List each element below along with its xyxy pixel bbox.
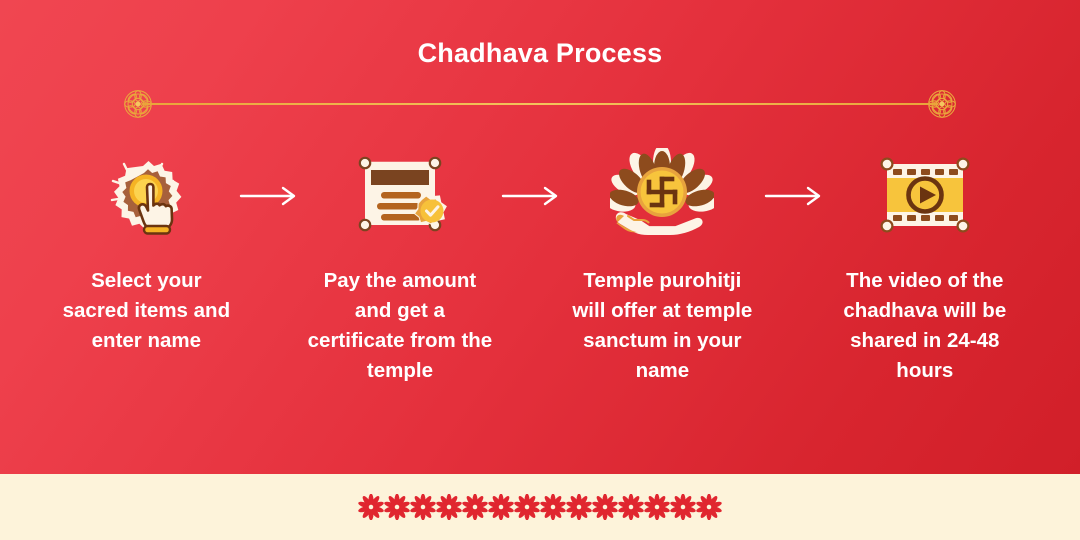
step-1-icon-wrap [100,148,192,244]
step-4-icon-wrap [875,148,975,244]
arrow-right-icon [501,185,561,207]
chadhava-process-poster: Chadhava Process [0,0,1080,540]
flower-icon [644,494,670,520]
hand-offering-swastika-lotus-icon [610,148,714,244]
flower-icon [592,494,618,520]
flower-icon [436,494,462,520]
flower-icon [462,494,488,520]
footer-ornament-bar [0,474,1080,540]
flower-icon [670,494,696,520]
flower-icon [696,494,722,520]
arrow-right-icon [764,185,824,207]
flower-divider [358,494,722,520]
flower-icon [618,494,644,520]
step-2-label: Pay the amount and get a certificate fro… [305,266,495,386]
step-3-icon-wrap [610,148,714,244]
step-4-label: The video of the chadhava will be shared… [830,266,1020,386]
step-3-label: Temple purohitji will offer at temple sa… [567,266,757,386]
flower-icon [384,494,410,520]
flower-icon [514,494,540,520]
process-step-3: Temple purohitji will offer at temple sa… [567,148,757,386]
step-arrow-1 [233,148,305,244]
arrow-right-icon [239,185,299,207]
step-arrow-3 [758,148,830,244]
decorative-divider [120,88,960,120]
step-2-icon-wrap [351,148,449,244]
flower-icon [358,494,384,520]
page-title: Chadhava Process [0,38,1080,69]
flower-icon [566,494,592,520]
process-step-2: Pay the amount and get a certificate fro… [305,148,495,386]
divider-line [142,103,938,105]
film-strip-play-icon [875,152,975,240]
step-arrow-2 [495,148,567,244]
flower-icon [488,494,514,520]
mandala-ornament-left-icon [119,85,157,123]
flower-icon [410,494,436,520]
flower-icon [540,494,566,520]
certificate-seal-icon [351,150,449,242]
mandala-ornament-right-icon [923,85,961,123]
step-1-label: Select your sacred items and enter name [60,266,233,356]
process-steps: Select your sacred items and enter name [60,148,1020,398]
process-step-4: The video of the chadhava will be shared… [830,148,1020,386]
process-step-1: Select your sacred items and enter name [60,148,233,356]
hand-tap-sun-icon [100,150,192,242]
